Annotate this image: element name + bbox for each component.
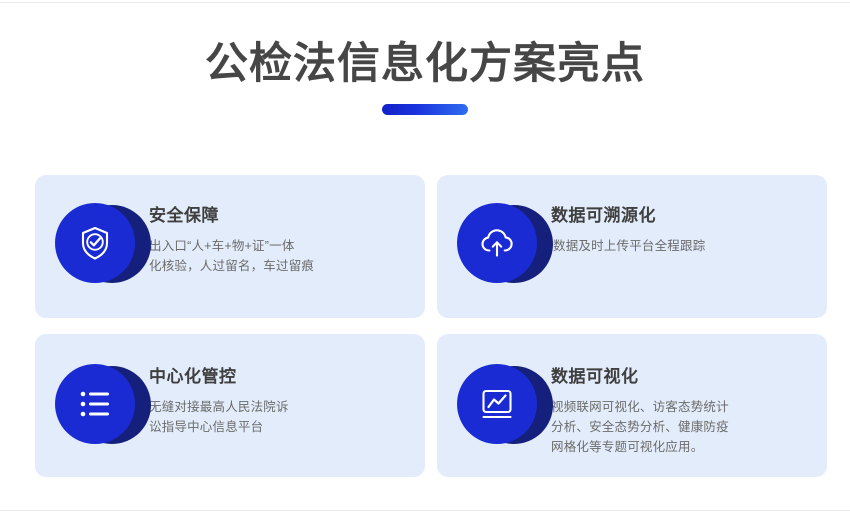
card-title: 数据可溯源化 [551,205,809,227]
feature-card-centralized-control[interactable]: 中心化管控 无缝对接最高人民法院诉 讼指导中心信息平台 [35,334,425,477]
feature-card-security[interactable]: 安全保障 出入口“人+车+物+证”一体 化核验，人过留名，车过留痕 [35,175,425,318]
title-underline-bar [382,104,468,115]
icon-badge [455,203,547,285]
cloud-upload-icon [476,223,518,263]
card-text: 数据可溯源化 数据及时上传平台全程跟踪 [551,203,809,256]
feature-card-data-visualization[interactable]: 数据可视化 视频联网可视化、访客态势统计 分析、安全态势分析、健康防疫 网格化等… [437,334,827,477]
icon-badge [53,203,145,285]
icon-badge [455,364,547,446]
card-description: 视频联网可视化、访客态势统计 分析、安全态势分析、健康防疫 网格化等专题可视化应… [551,397,809,457]
icon-circle [55,364,135,444]
card-description: 无缝对接最高人民法院诉 讼指导中心信息平台 [149,397,407,437]
page-header: 公检法信息化方案亮点 [0,36,850,115]
icon-circle [55,203,135,283]
icon-circle [457,203,537,283]
card-description: 数据及时上传平台全程跟踪 [551,236,809,256]
card-title: 数据可视化 [551,366,809,388]
chart-monitor-icon [477,385,517,423]
feature-card-data-traceability[interactable]: 数据可溯源化 数据及时上传平台全程跟踪 [437,175,827,318]
card-text: 中心化管控 无缝对接最高人民法院诉 讼指导中心信息平台 [149,364,407,437]
icon-circle [457,364,537,444]
icon-badge [53,364,145,446]
promo-page: 公检法信息化方案亮点 安全保障 出 [0,0,850,516]
card-text: 安全保障 出入口“人+车+物+证”一体 化核验，人过留名，车过留痕 [149,203,407,276]
card-text: 数据可视化 视频联网可视化、访客态势统计 分析、安全态势分析、健康防疫 网格化等… [551,364,809,457]
feature-card-grid: 安全保障 出入口“人+车+物+证”一体 化核验，人过留名，车过留痕 [35,175,815,477]
list-icon [75,387,115,421]
card-description: 出入口“人+车+物+证”一体 化核验，人过留名，车过留痕 [149,236,407,276]
page-title: 公检法信息化方案亮点 [0,36,850,92]
top-divider [0,2,850,3]
bottom-divider [0,510,850,511]
shield-check-icon [75,223,115,263]
card-title: 中心化管控 [149,366,407,388]
card-title: 安全保障 [149,205,407,227]
